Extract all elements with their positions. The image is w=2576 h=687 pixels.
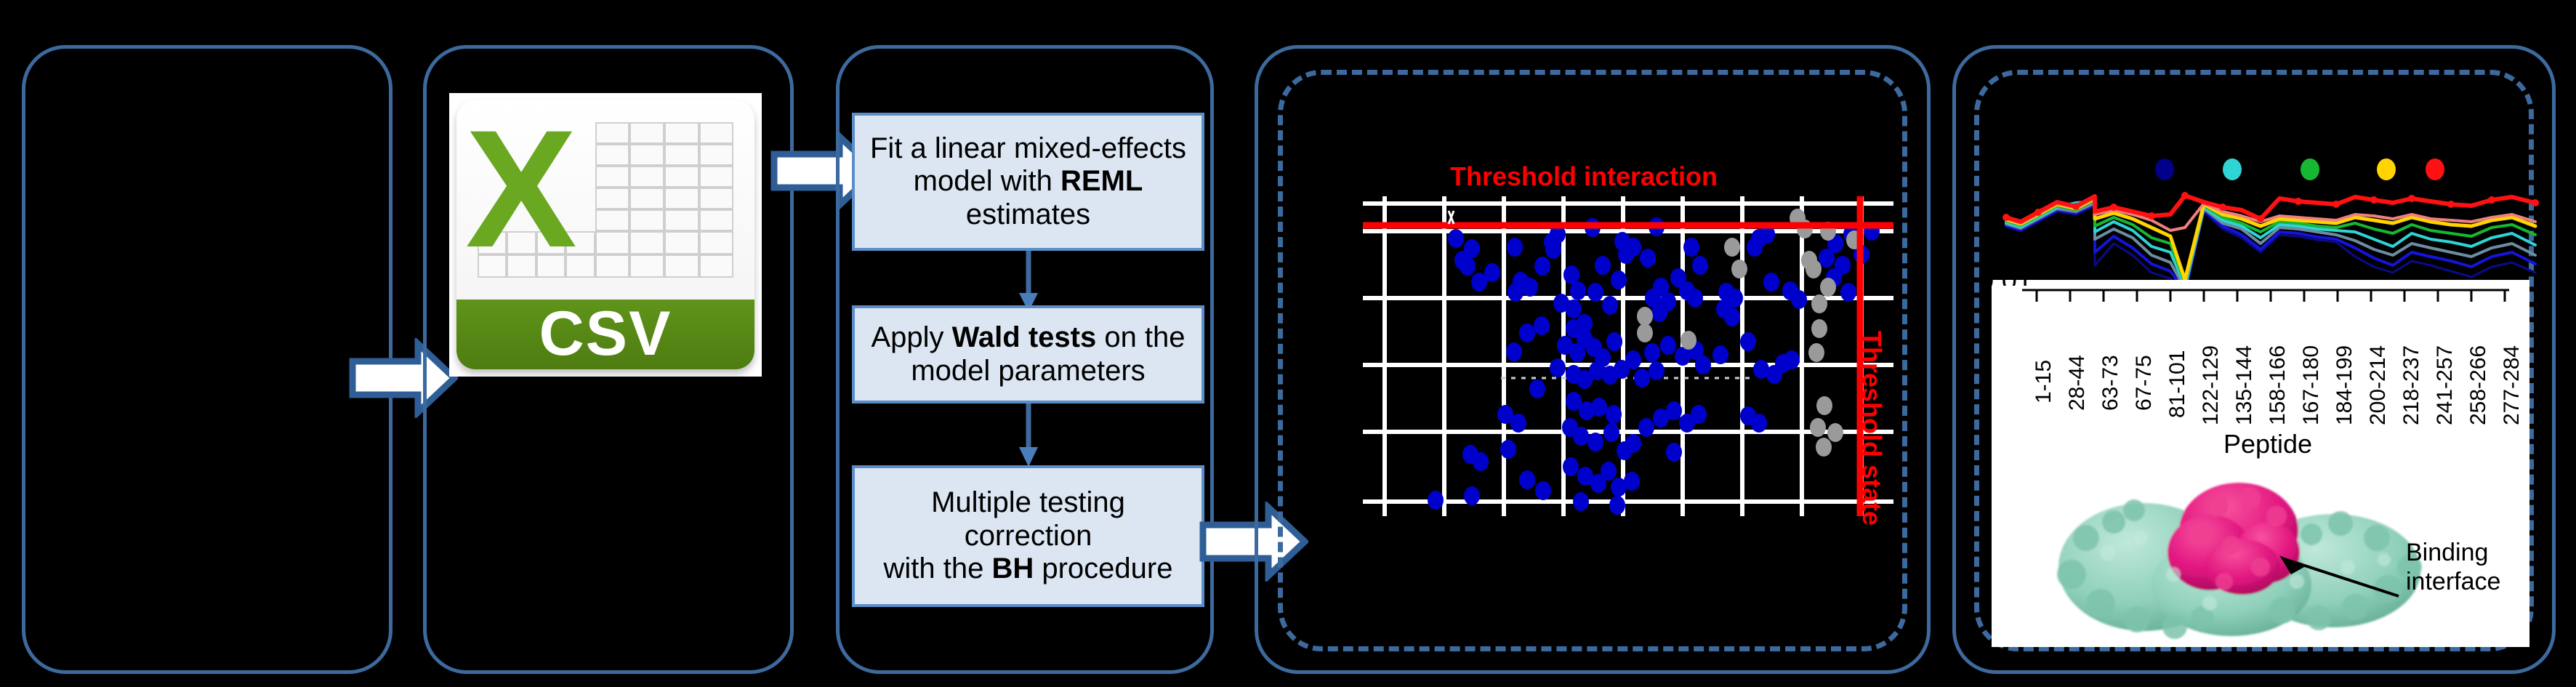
peptide-tick-6: 135-144 — [2232, 345, 2257, 425]
arrow-down-wald-to-bh — [1018, 403, 1039, 467]
csv-format-band: CSV — [456, 300, 754, 369]
chart-legend — [2108, 158, 2413, 185]
peptide-tick-13: 258-266 — [2466, 345, 2491, 425]
csv-file-icon: X CSV — [449, 93, 762, 377]
peptide-tick-3: 67-75 — [2132, 355, 2157, 411]
legend-dot-red — [2426, 158, 2444, 180]
legend-dot-cyan — [2223, 158, 2242, 180]
input-panel — [22, 45, 393, 674]
pipeline-diagram: X CSV Fit a linear mixed-effects model w… — [0, 0, 2576, 687]
peptide-tick-10: 200-214 — [2366, 345, 2391, 425]
peptide-tick-0: 1-15 — [2032, 360, 2056, 403]
binding-interface-line2: interface — [2406, 567, 2500, 596]
legend-dot-green — [2301, 158, 2319, 180]
arrow-down-model-to-wald — [1018, 251, 1039, 313]
threshold-state-label: Threshold state — [1856, 331, 1887, 526]
peptide-tick-2: 63-73 — [2098, 355, 2123, 411]
peptide-tick-8: 167-180 — [2299, 345, 2324, 425]
binding-interface-label: Binding interface — [2406, 538, 2500, 596]
peptide-line-chart — [2000, 185, 2560, 294]
step-model-text: Fit a linear mixed-effects model with RE… — [862, 132, 1194, 232]
peptide-tick-7: 158-166 — [2266, 345, 2290, 425]
scatter-plot — [1363, 196, 1893, 516]
threshold-interaction-label: Threshold interaction — [1450, 161, 1718, 192]
peptide-tick-5: 122-129 — [2199, 345, 2223, 425]
x-axis-title: Peptide — [2181, 429, 2355, 459]
step-model-box[interactable]: Fit a linear mixed-effects model with RE… — [852, 113, 1204, 251]
step-bh-line3: with the BH procedure — [884, 553, 1173, 586]
step-wald-text: Apply Wald tests on the model parameters — [862, 321, 1194, 387]
binding-interface-line1: Binding — [2406, 538, 2500, 567]
step-bh-line1: Multiple testing — [931, 486, 1125, 520]
step-bh-box[interactable]: Multiple testing correction with the BH … — [852, 465, 1204, 607]
csv-format-label: CSV — [539, 298, 672, 369]
legend-dot-darkblue — [2155, 158, 2174, 180]
peptide-tick-1: 28-44 — [2065, 355, 2090, 411]
peptide-tick-12: 241-257 — [2433, 345, 2458, 425]
peptide-tick-11: 218-237 — [2399, 345, 2424, 425]
legend-dot-yellow — [2377, 158, 2396, 180]
y-axis-tick-0: 0.01 — [1979, 265, 2051, 286]
peptide-axis-panel: 0.01 1-15 28-44 63-73 67-75 81-101 122-1… — [1992, 280, 2529, 647]
step-bh-line2: correction — [965, 520, 1092, 553]
peptide-tick-9: 184-199 — [2333, 345, 2357, 425]
protein-surface-render: Binding interface — [1992, 465, 2529, 647]
peptide-tick-14: 277-284 — [2500, 345, 2524, 425]
step-wald-box[interactable]: Apply Wald tests on the model parameters — [852, 305, 1204, 403]
excel-x-letter: X — [465, 105, 584, 229]
peptide-tick-4: 81-101 — [2165, 350, 2190, 418]
